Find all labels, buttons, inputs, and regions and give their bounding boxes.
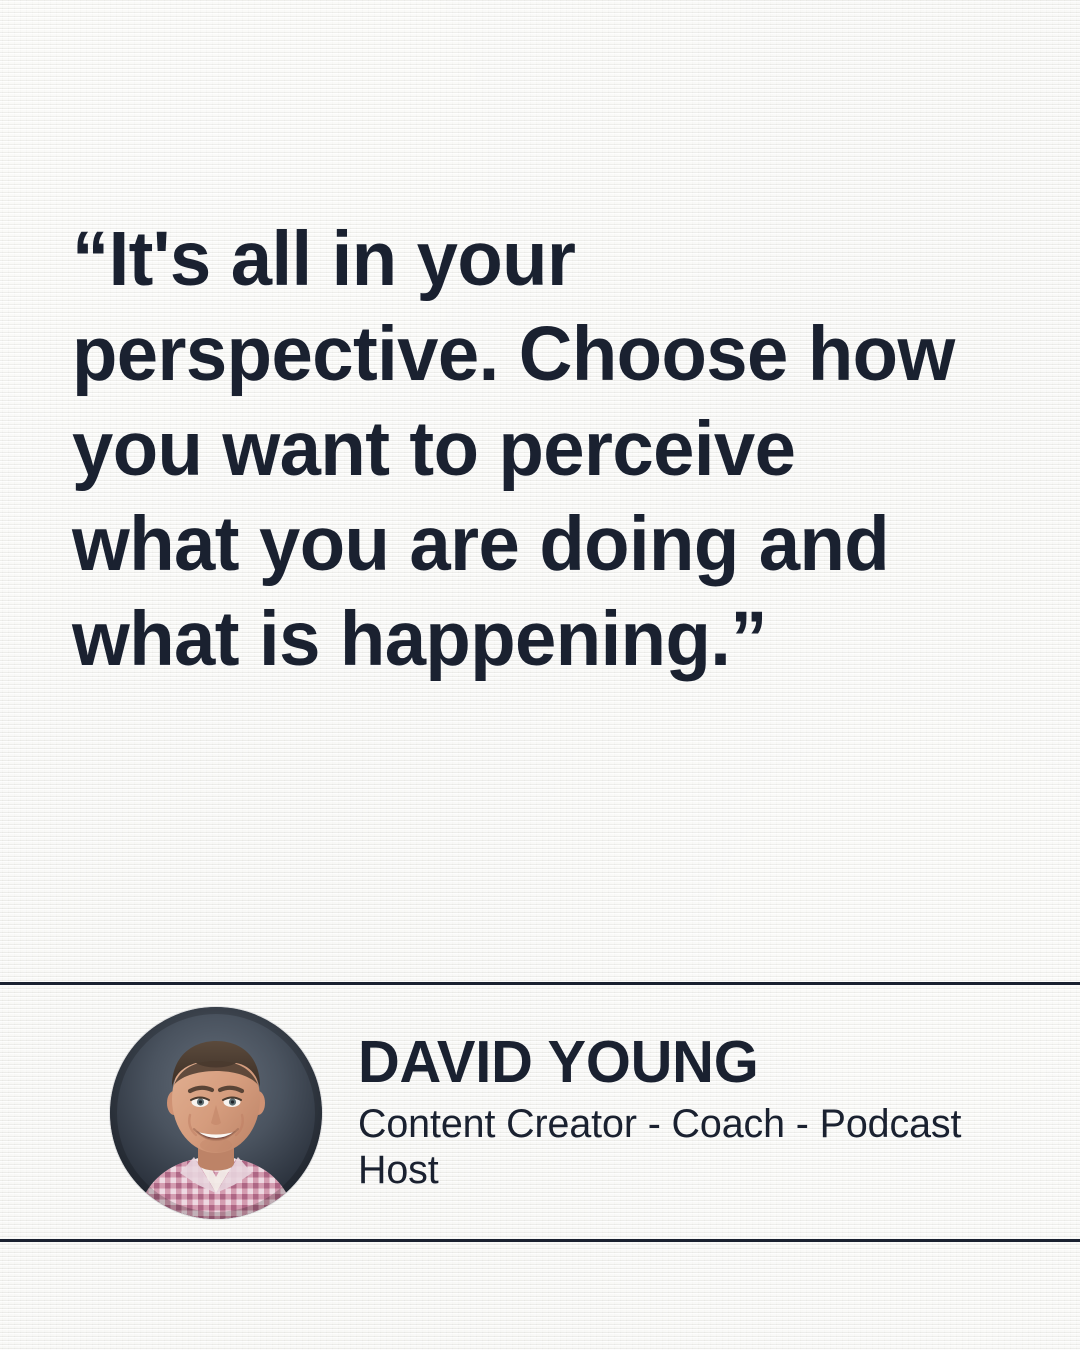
quote-text: “It's all in your perspective. Choose ho…: [72, 212, 969, 687]
quote-area: “It's all in your perspective. Choose ho…: [0, 0, 1080, 983]
divider-bottom: [0, 1239, 1080, 1242]
portrait-photo-icon: [110, 1007, 322, 1219]
quote-card: “It's all in your perspective. Choose ho…: [0, 0, 1080, 1350]
person-name: DAVID YOUNG: [358, 1031, 1044, 1093]
attribution-bar: DAVID YOUNG Content Creator - Coach - Po…: [0, 985, 1080, 1239]
attribution-text: DAVID YOUNG Content Creator - Coach - Po…: [358, 985, 1058, 1239]
person-role: Content Creator - Coach - Podcast Host: [358, 1101, 1048, 1193]
avatar: [110, 1007, 322, 1219]
